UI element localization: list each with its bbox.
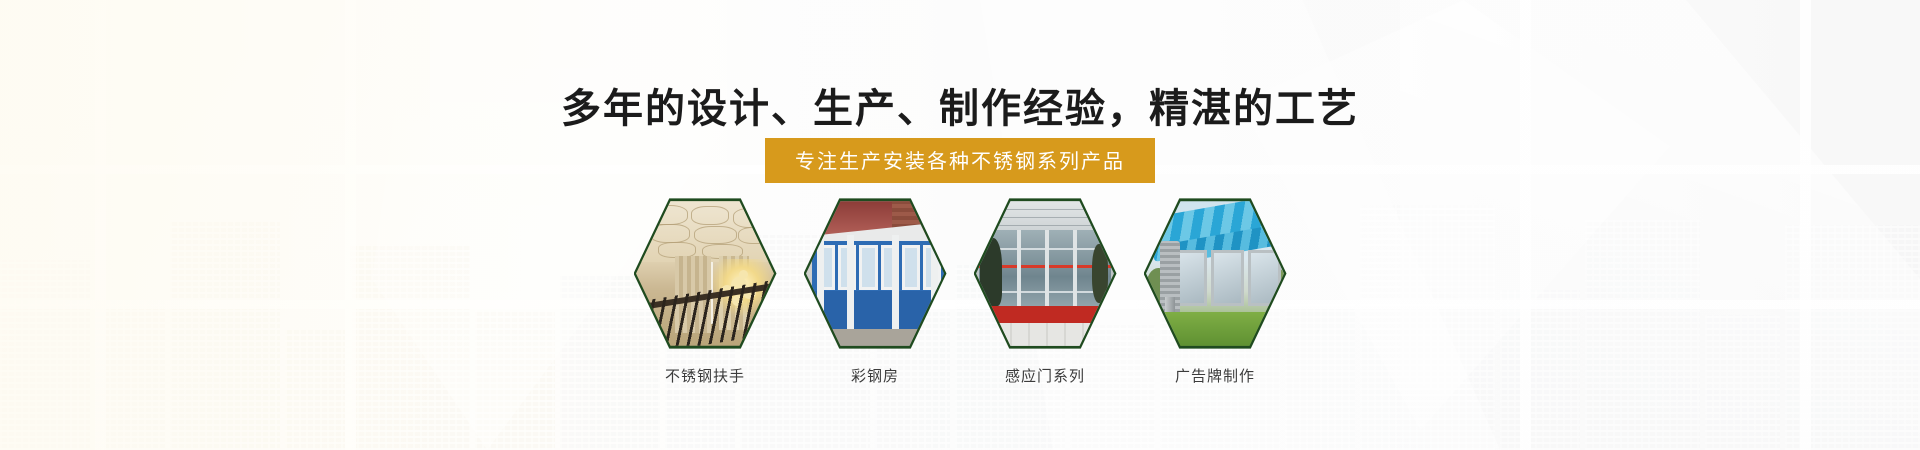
product-item-color-steel-cabin[interactable]: 彩钢房 [804, 196, 947, 386]
billboard-sign-photo [1146, 199, 1284, 348]
banner-subtitle-badge: 专注生产安装各种不锈钢系列产品 [765, 138, 1155, 183]
product-item-billboard[interactable]: 广告牌制作 [1144, 196, 1287, 386]
product-item-handrail[interactable]: 不锈钢扶手 [634, 196, 777, 386]
product-label: 广告牌制作 [1175, 365, 1255, 386]
banner-headline: 多年的设计、生产、制作经验，精湛的工艺 [0, 76, 1920, 134]
hexagon-frame[interactable] [804, 196, 947, 351]
product-label: 感应门系列 [1005, 365, 1085, 386]
product-item-sensor-door[interactable]: 感应门系列 [974, 196, 1117, 386]
hexagon-frame[interactable] [1144, 196, 1287, 351]
product-hexagon-row: 不锈钢扶手 [0, 196, 1920, 386]
banner-subtitle-wrap: 专注生产安装各种不锈钢系列产品 [0, 138, 1920, 183]
hexagon-frame[interactable] [634, 196, 777, 351]
hero-banner: 多年的设计、生产、制作经验，精湛的工艺 专注生产安装各种不锈钢系列产品 [0, 0, 1920, 450]
automatic-sensor-door-photo [976, 199, 1114, 348]
hexagon-frame[interactable] [974, 196, 1117, 351]
product-label: 彩钢房 [851, 365, 899, 386]
banner-content: 多年的设计、生产、制作经验，精湛的工艺 专注生产安装各种不锈钢系列产品 [0, 0, 1920, 450]
stainless-steel-handrail-photo [636, 199, 774, 348]
color-steel-cabin-photo [806, 199, 944, 348]
product-label: 不锈钢扶手 [665, 365, 745, 386]
